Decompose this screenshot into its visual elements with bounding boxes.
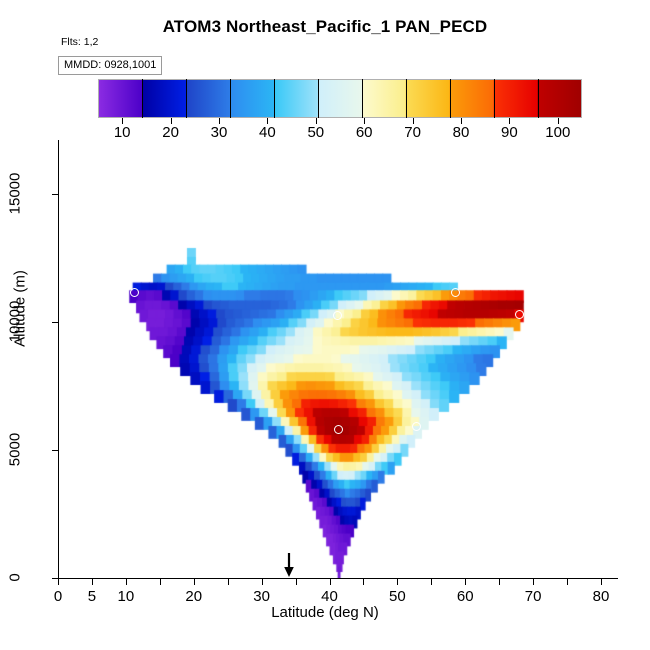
x-axis-tick xyxy=(126,579,127,585)
colorbar-divider xyxy=(538,79,539,118)
colorbar-tick-label: 70 xyxy=(393,124,433,141)
y-axis-line xyxy=(58,140,59,578)
x-axis-tick xyxy=(92,579,93,585)
y-axis-tick-label: 0 xyxy=(7,553,24,603)
profile-marker xyxy=(130,288,139,297)
y-axis-tick xyxy=(52,578,58,579)
x-axis-minor-tick xyxy=(363,579,364,585)
mmdd-label: MMDD: 0928,1001 xyxy=(64,59,156,71)
x-axis-tick xyxy=(58,579,59,585)
x-axis-tick-label: 30 xyxy=(242,588,282,605)
x-axis-tick-label: 60 xyxy=(445,588,485,605)
colorbar-tick-label: 80 xyxy=(441,124,481,141)
x-axis-minor-tick xyxy=(160,579,161,585)
colorbar-tick-label: 100 xyxy=(538,124,578,141)
colorbar-divider xyxy=(186,79,187,118)
colorbar-divider xyxy=(318,79,319,118)
plot-area: 051020304050607080 050001000015000 xyxy=(58,140,618,578)
x-axis-tick-label: 80 xyxy=(581,588,621,605)
x-axis-minor-tick xyxy=(228,579,229,585)
colorbar-track xyxy=(98,79,582,118)
colorbar-divider xyxy=(230,79,231,118)
x-axis-tick xyxy=(194,579,195,585)
heatmap-canvas xyxy=(58,140,618,578)
colorbar-divider xyxy=(494,79,495,118)
colorbar-tick-label: 60 xyxy=(344,124,384,141)
x-axis-tick xyxy=(601,579,602,585)
colorbar-divider xyxy=(274,79,275,118)
x-axis-minor-tick xyxy=(567,579,568,585)
x-axis-minor-tick xyxy=(431,579,432,585)
y-axis-tick xyxy=(52,322,58,323)
x-axis-tick xyxy=(262,579,263,585)
figure-root: ATOM3 Northeast_Pacific_1 PAN_PECD Flts:… xyxy=(0,0,650,650)
colorbar-tick-label: 30 xyxy=(199,124,239,141)
x-axis-tick-label: 50 xyxy=(377,588,417,605)
colorbar-divider xyxy=(362,79,363,118)
y-axis-title: Altitude (m) xyxy=(12,229,29,389)
colorbar-divider xyxy=(142,79,143,118)
x-axis-minor-tick xyxy=(296,579,297,585)
mmdd-legend-box: MMDD: 0928,1001 xyxy=(58,56,162,75)
profile-marker xyxy=(334,425,343,434)
colorbar-gradient xyxy=(99,80,581,117)
y-axis-tick xyxy=(52,194,58,195)
x-axis-tick xyxy=(533,579,534,585)
x-axis-tick xyxy=(330,579,331,585)
colorbar-divider xyxy=(450,79,451,118)
profile-marker xyxy=(515,310,524,319)
y-axis-tick-label: 5000 xyxy=(7,424,24,474)
x-axis-tick xyxy=(465,579,466,585)
x-axis-tick xyxy=(397,579,398,585)
colorbar-divider xyxy=(406,79,407,118)
y-axis-tick-label: 15000 xyxy=(7,168,24,218)
colorbar-tick-label: 40 xyxy=(247,124,287,141)
colorbar-tick-label: 90 xyxy=(489,124,529,141)
colorbar-tick-label: 20 xyxy=(151,124,191,141)
x-axis-tick-label: 70 xyxy=(513,588,553,605)
colorbar: 102030405060708090100 xyxy=(98,79,582,118)
x-axis-tick-label: 10 xyxy=(106,588,146,605)
colorbar-tick-label: 50 xyxy=(296,124,336,141)
y-axis-tick xyxy=(52,450,58,451)
x-axis-title: Latitude (deg N) xyxy=(0,604,650,621)
colorbar-tick-label: 10 xyxy=(102,124,142,141)
arrow-marker-icon xyxy=(281,552,297,578)
page-title: ATOM3 Northeast_Pacific_1 PAN_PECD xyxy=(0,17,650,37)
x-axis-tick-label: 40 xyxy=(310,588,350,605)
x-axis-minor-tick xyxy=(499,579,500,585)
x-axis-tick-label: 20 xyxy=(174,588,214,605)
profile-marker xyxy=(451,288,460,297)
flights-label: Flts: 1,2 xyxy=(61,36,98,48)
